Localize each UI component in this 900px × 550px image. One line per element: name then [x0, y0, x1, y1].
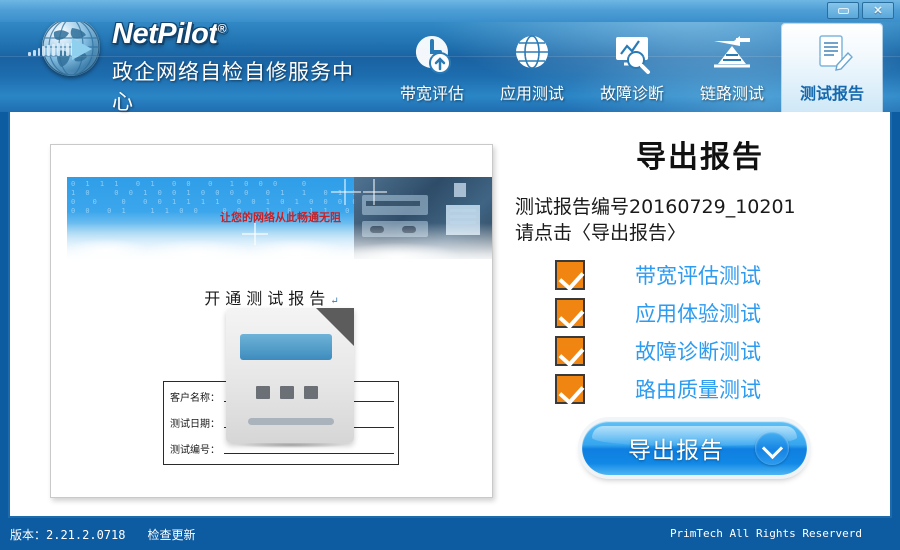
- minimize-button[interactable]: [827, 2, 859, 19]
- tab-label: 故障诊断: [600, 80, 664, 104]
- report-number: 测试报告编号20160729_10201: [515, 194, 890, 220]
- speed-lines-icon: [28, 42, 74, 56]
- tab-bandwidth[interactable]: 带宽评估: [382, 24, 482, 112]
- chevron-down-icon[interactable]: [755, 431, 789, 465]
- form-label: 测试日期：: [170, 415, 220, 430]
- page-title: 导出报告: [510, 132, 890, 176]
- form-label: 客户名称：: [170, 389, 220, 404]
- close-button[interactable]: ✕: [862, 2, 894, 19]
- minimize-icon: [838, 8, 849, 14]
- doc-block: [304, 386, 318, 399]
- list-item[interactable]: 带宽评估测试: [510, 256, 890, 294]
- pilcrow-icon: ↵: [330, 296, 338, 307]
- doc-footer-line: [248, 418, 334, 425]
- title-bar: ✕: [0, 0, 900, 22]
- tab-link-test[interactable]: 链路测试: [682, 24, 782, 112]
- arrow-icon: [72, 38, 92, 60]
- status-left: 版本：2.21.2.0718 检查更新: [10, 526, 196, 543]
- application-window: ✕: [0, 0, 900, 550]
- main-nav: 带宽评估 应用测试: [382, 24, 882, 112]
- list-item-label: 故障诊断测试: [635, 336, 761, 366]
- list-item[interactable]: 故障诊断测试: [510, 332, 890, 370]
- check-update-link[interactable]: 检查更新: [147, 526, 195, 543]
- brand-text: NetPilot: [112, 18, 218, 50]
- copyright-label: PrimTech All Rights Reserverd: [670, 527, 862, 540]
- preview-slogan: 让您的网络从此畅通无阻: [67, 209, 493, 225]
- report-preview-page[interactable]: 0 1 1 1 0 1 0 0 0 1 0 0 0 0 1 0 0 0 1 0 …: [50, 144, 493, 498]
- content-area: 0 1 1 1 0 1 0 0 0 1 0 0 0 0 1 0 0 0 1 0 …: [8, 112, 892, 518]
- tab-report[interactable]: 测试报告: [782, 24, 882, 112]
- tab-application[interactable]: 应用测试: [482, 24, 582, 112]
- status-bar: 版本：2.21.2.0718 检查更新 PrimTech All Rights …: [0, 518, 900, 550]
- form-label: 测试编号：: [170, 441, 220, 456]
- registered-mark: ®: [218, 21, 226, 35]
- doc-block: [256, 386, 270, 399]
- preview-doc-title-text: 开通测试报告: [204, 289, 330, 308]
- tab-label: 带宽评估: [400, 80, 464, 104]
- report-pencil-icon: [810, 32, 854, 76]
- list-item[interactable]: 应用体验测试: [510, 294, 890, 332]
- brand-logo: NetPilot® 政企网络自检自修服务中心: [34, 16, 364, 100]
- version-label: 版本：2.21.2.0718: [10, 526, 125, 543]
- checkbox-checked-icon[interactable]: [555, 374, 585, 404]
- globe-icon: [510, 32, 554, 76]
- export-report-button[interactable]: 导出报告: [582, 421, 807, 475]
- cloud-graphic: [67, 223, 493, 259]
- export-report-panel: 导出报告 测试报告编号20160729_10201 请点击〈导出报告〉 带宽评估…: [510, 126, 890, 506]
- export-report-label: 导出报告: [628, 431, 724, 465]
- tab-label: 应用测试: [500, 80, 564, 104]
- tab-diagnostics[interactable]: 故障诊断: [582, 24, 682, 112]
- close-icon: ✕: [873, 4, 882, 17]
- tab-label: 测试报告: [800, 80, 864, 104]
- checkbox-checked-icon[interactable]: [555, 336, 585, 366]
- preview-banner: 0 1 1 1 0 1 0 0 0 1 0 0 0 0 1 0 0 0 1 0 …: [67, 177, 493, 259]
- list-item-label: 带宽评估测试: [635, 260, 761, 290]
- tab-label: 链路测试: [700, 80, 764, 104]
- brand-subtitle: 政企网络自检自修服务中心: [112, 56, 364, 116]
- document-icon: [226, 308, 354, 443]
- bandwidth-gauge-icon: [410, 32, 454, 76]
- preview-doc-title: 开通测试报告↵: [51, 285, 492, 309]
- doc-header-bar: [240, 334, 332, 360]
- link-route-icon: [710, 32, 754, 76]
- report-section-list: 带宽评估测试 应用体验测试 故障诊断测试 路由质量测试: [510, 256, 890, 408]
- list-item[interactable]: 路由质量测试: [510, 370, 890, 408]
- instruction-text: 请点击〈导出报告〉: [515, 220, 890, 246]
- chart-search-icon: [610, 32, 654, 76]
- list-item-label: 路由质量测试: [635, 374, 761, 404]
- doc-block: [280, 386, 294, 399]
- checkbox-checked-icon[interactable]: [555, 298, 585, 328]
- brand-name: NetPilot®: [112, 18, 226, 51]
- list-item-label: 应用体验测试: [635, 298, 761, 328]
- checkbox-checked-icon[interactable]: [555, 260, 585, 290]
- window-controls: ✕: [827, 2, 894, 19]
